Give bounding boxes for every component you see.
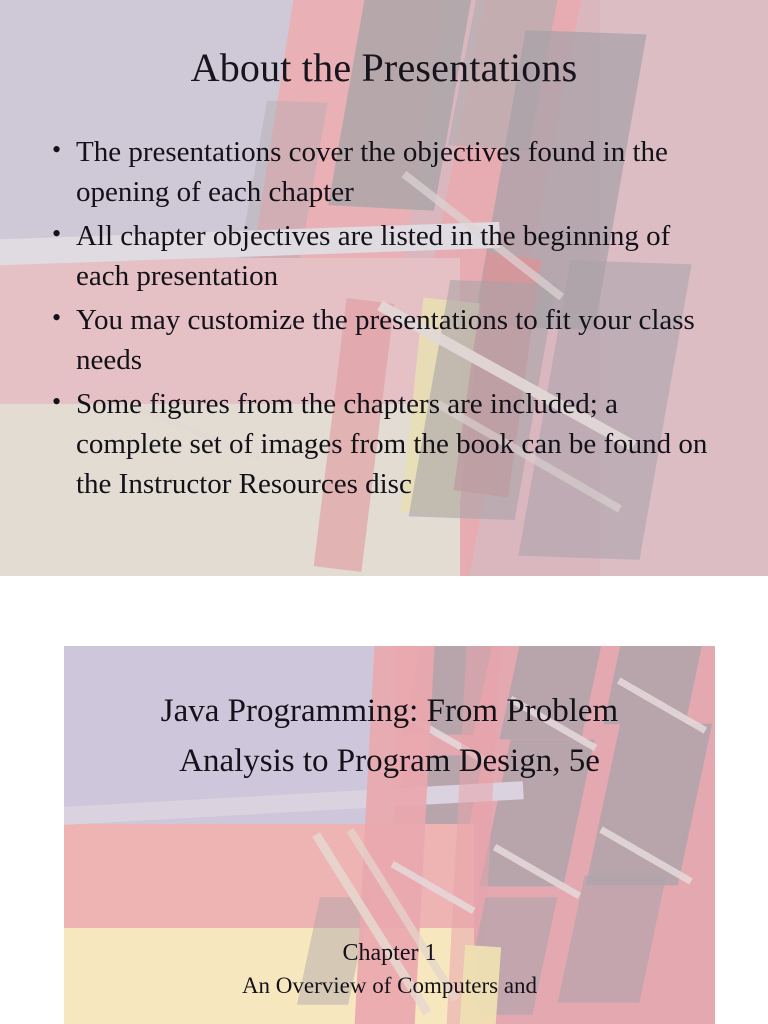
chapter-title-label: An Overview of Computers and — [70, 970, 709, 1003]
slide-two-text-layer: Java Programming: From Problem Analysis … — [64, 646, 715, 1024]
slide-about-the-presentations[interactable]: About the Presentations • The presentati… — [0, 0, 768, 576]
bullet-item-text: Some figures from the chapters are inclu… — [76, 384, 720, 504]
bullet-point-icon: • — [48, 132, 76, 168]
slide-two-subtitle: Chapter 1 An Overview of Computers and — [70, 936, 709, 1003]
bullet-item: • Some figures from the chapters are inc… — [48, 384, 720, 504]
slide-one-bullet-list: • The presentations cover the objectives… — [48, 132, 720, 508]
bullet-point-icon: • — [48, 300, 76, 336]
slide-one-text-layer: About the Presentations • The presentati… — [0, 0, 768, 576]
slide-java-programming-title[interactable]: Java Programming: From Problem Analysis … — [64, 646, 715, 1024]
bullet-item: • You may customize the presentations to… — [48, 300, 720, 380]
slide-two-title-line-1: Java Programming: From Problem — [70, 686, 709, 736]
bullet-point-icon: • — [48, 384, 76, 420]
bullet-item-text: You may customize the presentations to f… — [76, 300, 720, 380]
slide-two-title-line-2: Analysis to Program Design, 5e — [70, 736, 709, 786]
bullet-item-text: The presentations cover the objectives f… — [76, 132, 720, 212]
slide-two-title: Java Programming: From Problem Analysis … — [70, 686, 709, 786]
bullet-point-icon: • — [48, 216, 76, 252]
bullet-item: • The presentations cover the objectives… — [48, 132, 720, 212]
handout-page: About the Presentations • The presentati… — [0, 0, 768, 1024]
bullet-item: • All chapter objectives are listed in t… — [48, 216, 720, 296]
slide-one-title: About the Presentations — [0, 48, 768, 88]
chapter-number-label: Chapter 1 — [70, 936, 709, 970]
bullet-item-text: All chapter objectives are listed in the… — [76, 216, 720, 296]
